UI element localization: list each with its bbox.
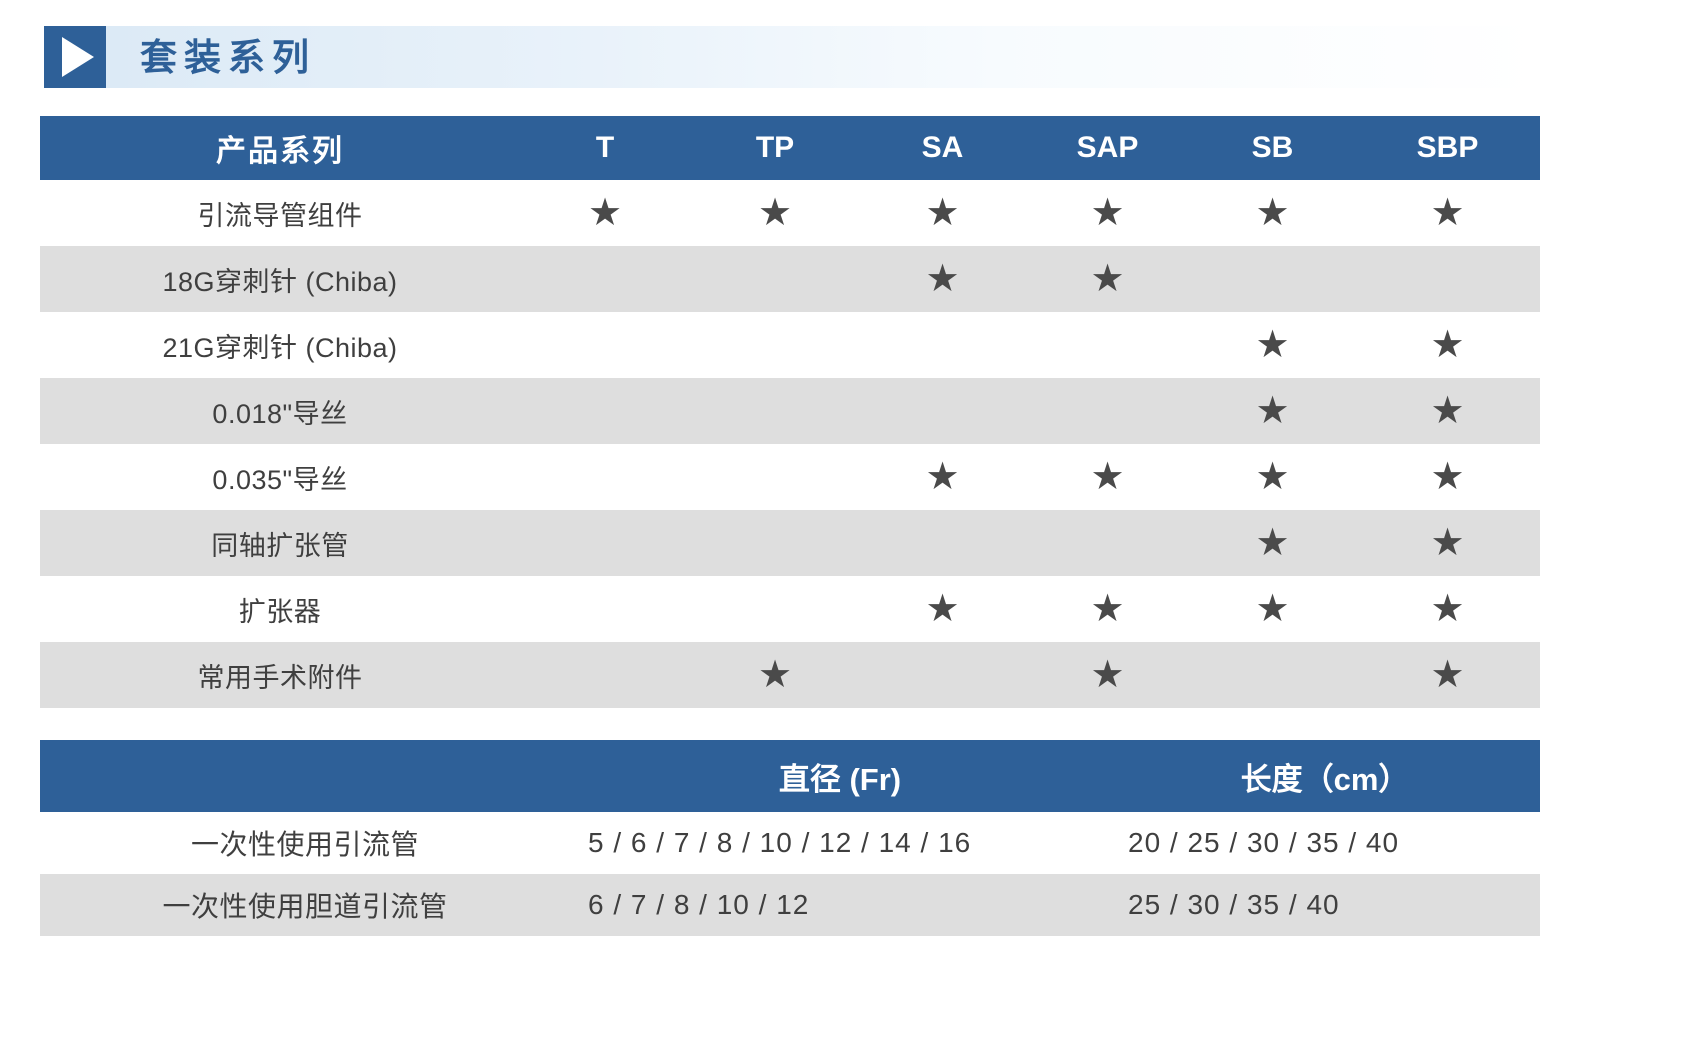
matrix-cell: ★ — [1025, 378, 1190, 444]
matrix-cell: ★ — [1190, 642, 1355, 708]
star-icon: ★ — [925, 260, 959, 298]
matrix-cell: ★ — [1355, 510, 1540, 576]
page-title: 套装系列 — [140, 39, 316, 76]
matrix-cell: ★ — [1190, 510, 1355, 576]
matrix-cell: ★ — [690, 576, 860, 642]
matrix-cell: ★ — [860, 312, 1025, 378]
spec-row-name: 一次性使用胆道引流管 — [40, 874, 570, 936]
matrix-body: 引流导管组件 ★ ★ ★ ★ ★ ★ 18G穿刺针 (Chiba) ★ ★ ★ … — [40, 180, 1540, 708]
matrix-cell: ★ — [520, 180, 690, 246]
matrix-cell: ★ — [1355, 378, 1540, 444]
matrix-cell: ★ — [1355, 576, 1540, 642]
spec-row-name: 一次性使用引流管 — [40, 812, 570, 874]
table-row: 同轴扩张管 ★ ★ ★ ★ ★ ★ — [40, 510, 1540, 576]
star-icon: ★ — [1255, 326, 1289, 364]
matrix-header-col-5: SBP — [1355, 116, 1540, 180]
product-series-matrix-table: 产品系列 T TP SA SAP SB SBP 引流导管组件 ★ ★ ★ ★ ★… — [40, 116, 1540, 708]
matrix-cell: ★ — [520, 510, 690, 576]
matrix-header-col-1: TP — [690, 116, 860, 180]
star-icon: ★ — [1090, 260, 1124, 298]
matrix-header-col-0: T — [520, 116, 690, 180]
table-row: 21G穿刺针 (Chiba) ★ ★ ★ ★ ★ ★ — [40, 312, 1540, 378]
star-icon: ★ — [758, 194, 792, 232]
star-icon: ★ — [1090, 590, 1124, 628]
matrix-cell: ★ — [860, 180, 1025, 246]
star-icon: ★ — [1255, 194, 1289, 232]
section-marker — [44, 26, 106, 88]
table-row: 0.018"导丝 ★ ★ ★ ★ ★ ★ — [40, 378, 1540, 444]
matrix-cell: ★ — [860, 246, 1025, 312]
matrix-cell: ★ — [1025, 444, 1190, 510]
matrix-cell: ★ — [520, 576, 690, 642]
star-icon: ★ — [925, 590, 959, 628]
matrix-cell: ★ — [690, 378, 860, 444]
matrix-cell: ★ — [1190, 312, 1355, 378]
star-icon: ★ — [1090, 194, 1124, 232]
row-label: 常用手术附件 — [40, 642, 520, 708]
matrix-cell: ★ — [860, 444, 1025, 510]
table-row: 18G穿刺针 (Chiba) ★ ★ ★ ★ ★ ★ — [40, 246, 1540, 312]
section-header-bar: 套装系列 — [106, 26, 1540, 88]
spec-row-length: 20 / 25 / 30 / 35 / 40 — [1110, 812, 1540, 874]
matrix-cell: ★ — [690, 510, 860, 576]
spec-row-diameter: 5 / 6 / 7 / 8 / 10 / 12 / 14 / 16 — [570, 812, 1110, 874]
matrix-cell: ★ — [1355, 246, 1540, 312]
matrix-cell: ★ — [1025, 312, 1190, 378]
matrix-cell: ★ — [1025, 180, 1190, 246]
row-label: 0.035"导丝 — [40, 444, 520, 510]
spec-header-diameter: 直径 (Fr) — [570, 740, 1110, 812]
row-label: 18G穿刺针 (Chiba) — [40, 246, 520, 312]
matrix-cell: ★ — [1355, 312, 1540, 378]
table-row: 扩张器 ★ ★ ★ ★ ★ ★ — [40, 576, 1540, 642]
star-icon: ★ — [588, 194, 622, 232]
matrix-header-col-2: SA — [860, 116, 1025, 180]
row-label: 0.018"导丝 — [40, 378, 520, 444]
matrix-cell: ★ — [520, 378, 690, 444]
matrix-cell: ★ — [520, 642, 690, 708]
matrix-cell: ★ — [1355, 180, 1540, 246]
matrix-header-row: 产品系列 T TP SA SAP SB SBP — [40, 116, 1540, 180]
star-icon: ★ — [1255, 458, 1289, 496]
star-icon: ★ — [925, 194, 959, 232]
matrix-cell: ★ — [1190, 246, 1355, 312]
star-icon: ★ — [1090, 458, 1124, 496]
matrix-header-product-series: 产品系列 — [40, 116, 520, 180]
matrix-cell: ★ — [1190, 444, 1355, 510]
matrix-cell: ★ — [1025, 246, 1190, 312]
table-row: 一次性使用胆道引流管 6 / 7 / 8 / 10 / 12 25 / 30 /… — [40, 874, 1540, 936]
star-icon: ★ — [925, 458, 959, 496]
matrix-header-col-3: SAP — [1025, 116, 1190, 180]
star-icon: ★ — [1255, 392, 1289, 430]
matrix-cell: ★ — [1025, 510, 1190, 576]
star-icon: ★ — [758, 656, 792, 694]
star-icon: ★ — [1430, 458, 1464, 496]
table-row: 引流导管组件 ★ ★ ★ ★ ★ ★ — [40, 180, 1540, 246]
matrix-cell: ★ — [860, 510, 1025, 576]
spec-header-length: 长度（cm） — [1110, 740, 1540, 812]
matrix-cell: ★ — [1190, 576, 1355, 642]
spec-header-row: 直径 (Fr) 长度（cm） — [40, 740, 1540, 812]
product-series-spec-sheet: 套装系列 产品系列 T TP SA SAP SB SBP — [0, 0, 1701, 1061]
star-icon: ★ — [1430, 392, 1464, 430]
matrix-cell: ★ — [1025, 576, 1190, 642]
matrix-cell: ★ — [860, 642, 1025, 708]
dimension-spec-table: 直径 (Fr) 长度（cm） 一次性使用引流管 5 / 6 / 7 / 8 / … — [40, 740, 1540, 936]
star-icon: ★ — [1090, 656, 1124, 694]
matrix-cell: ★ — [520, 444, 690, 510]
table-row: 0.035"导丝 ★ ★ ★ ★ ★ ★ — [40, 444, 1540, 510]
matrix-cell: ★ — [690, 444, 860, 510]
matrix-cell: ★ — [1025, 642, 1190, 708]
play-triangle-icon — [62, 37, 94, 77]
matrix-cell: ★ — [1355, 642, 1540, 708]
matrix-header-col-4: SB — [1190, 116, 1355, 180]
row-label: 扩张器 — [40, 576, 520, 642]
matrix-cell: ★ — [520, 246, 690, 312]
matrix-cell: ★ — [520, 312, 690, 378]
star-icon: ★ — [1430, 326, 1464, 364]
spec-row-length: 25 / 30 / 35 / 40 — [1110, 874, 1540, 936]
row-label: 同轴扩张管 — [40, 510, 520, 576]
matrix-cell: ★ — [860, 378, 1025, 444]
matrix-cell: ★ — [860, 576, 1025, 642]
table-row: 常用手术附件 ★ ★ ★ ★ ★ ★ — [40, 642, 1540, 708]
section-header: 套装系列 — [44, 26, 1540, 88]
matrix-cell: ★ — [690, 312, 860, 378]
spec-body: 一次性使用引流管 5 / 6 / 7 / 8 / 10 / 12 / 14 / … — [40, 812, 1540, 936]
spec-row-diameter: 6 / 7 / 8 / 10 / 12 — [570, 874, 1110, 936]
star-icon: ★ — [1430, 590, 1464, 628]
matrix-cell: ★ — [690, 642, 860, 708]
matrix-cell: ★ — [1355, 444, 1540, 510]
matrix-cell: ★ — [690, 246, 860, 312]
matrix-cell: ★ — [1190, 378, 1355, 444]
table-row: 一次性使用引流管 5 / 6 / 7 / 8 / 10 / 12 / 14 / … — [40, 812, 1540, 874]
row-label: 21G穿刺针 (Chiba) — [40, 312, 520, 378]
matrix-cell: ★ — [690, 180, 860, 246]
matrix-cell: ★ — [1190, 180, 1355, 246]
row-label: 引流导管组件 — [40, 180, 520, 246]
star-icon: ★ — [1430, 524, 1464, 562]
star-icon: ★ — [1255, 524, 1289, 562]
star-icon: ★ — [1430, 194, 1464, 232]
spec-header-blank — [40, 740, 570, 812]
star-icon: ★ — [1430, 656, 1464, 694]
star-icon: ★ — [1255, 590, 1289, 628]
